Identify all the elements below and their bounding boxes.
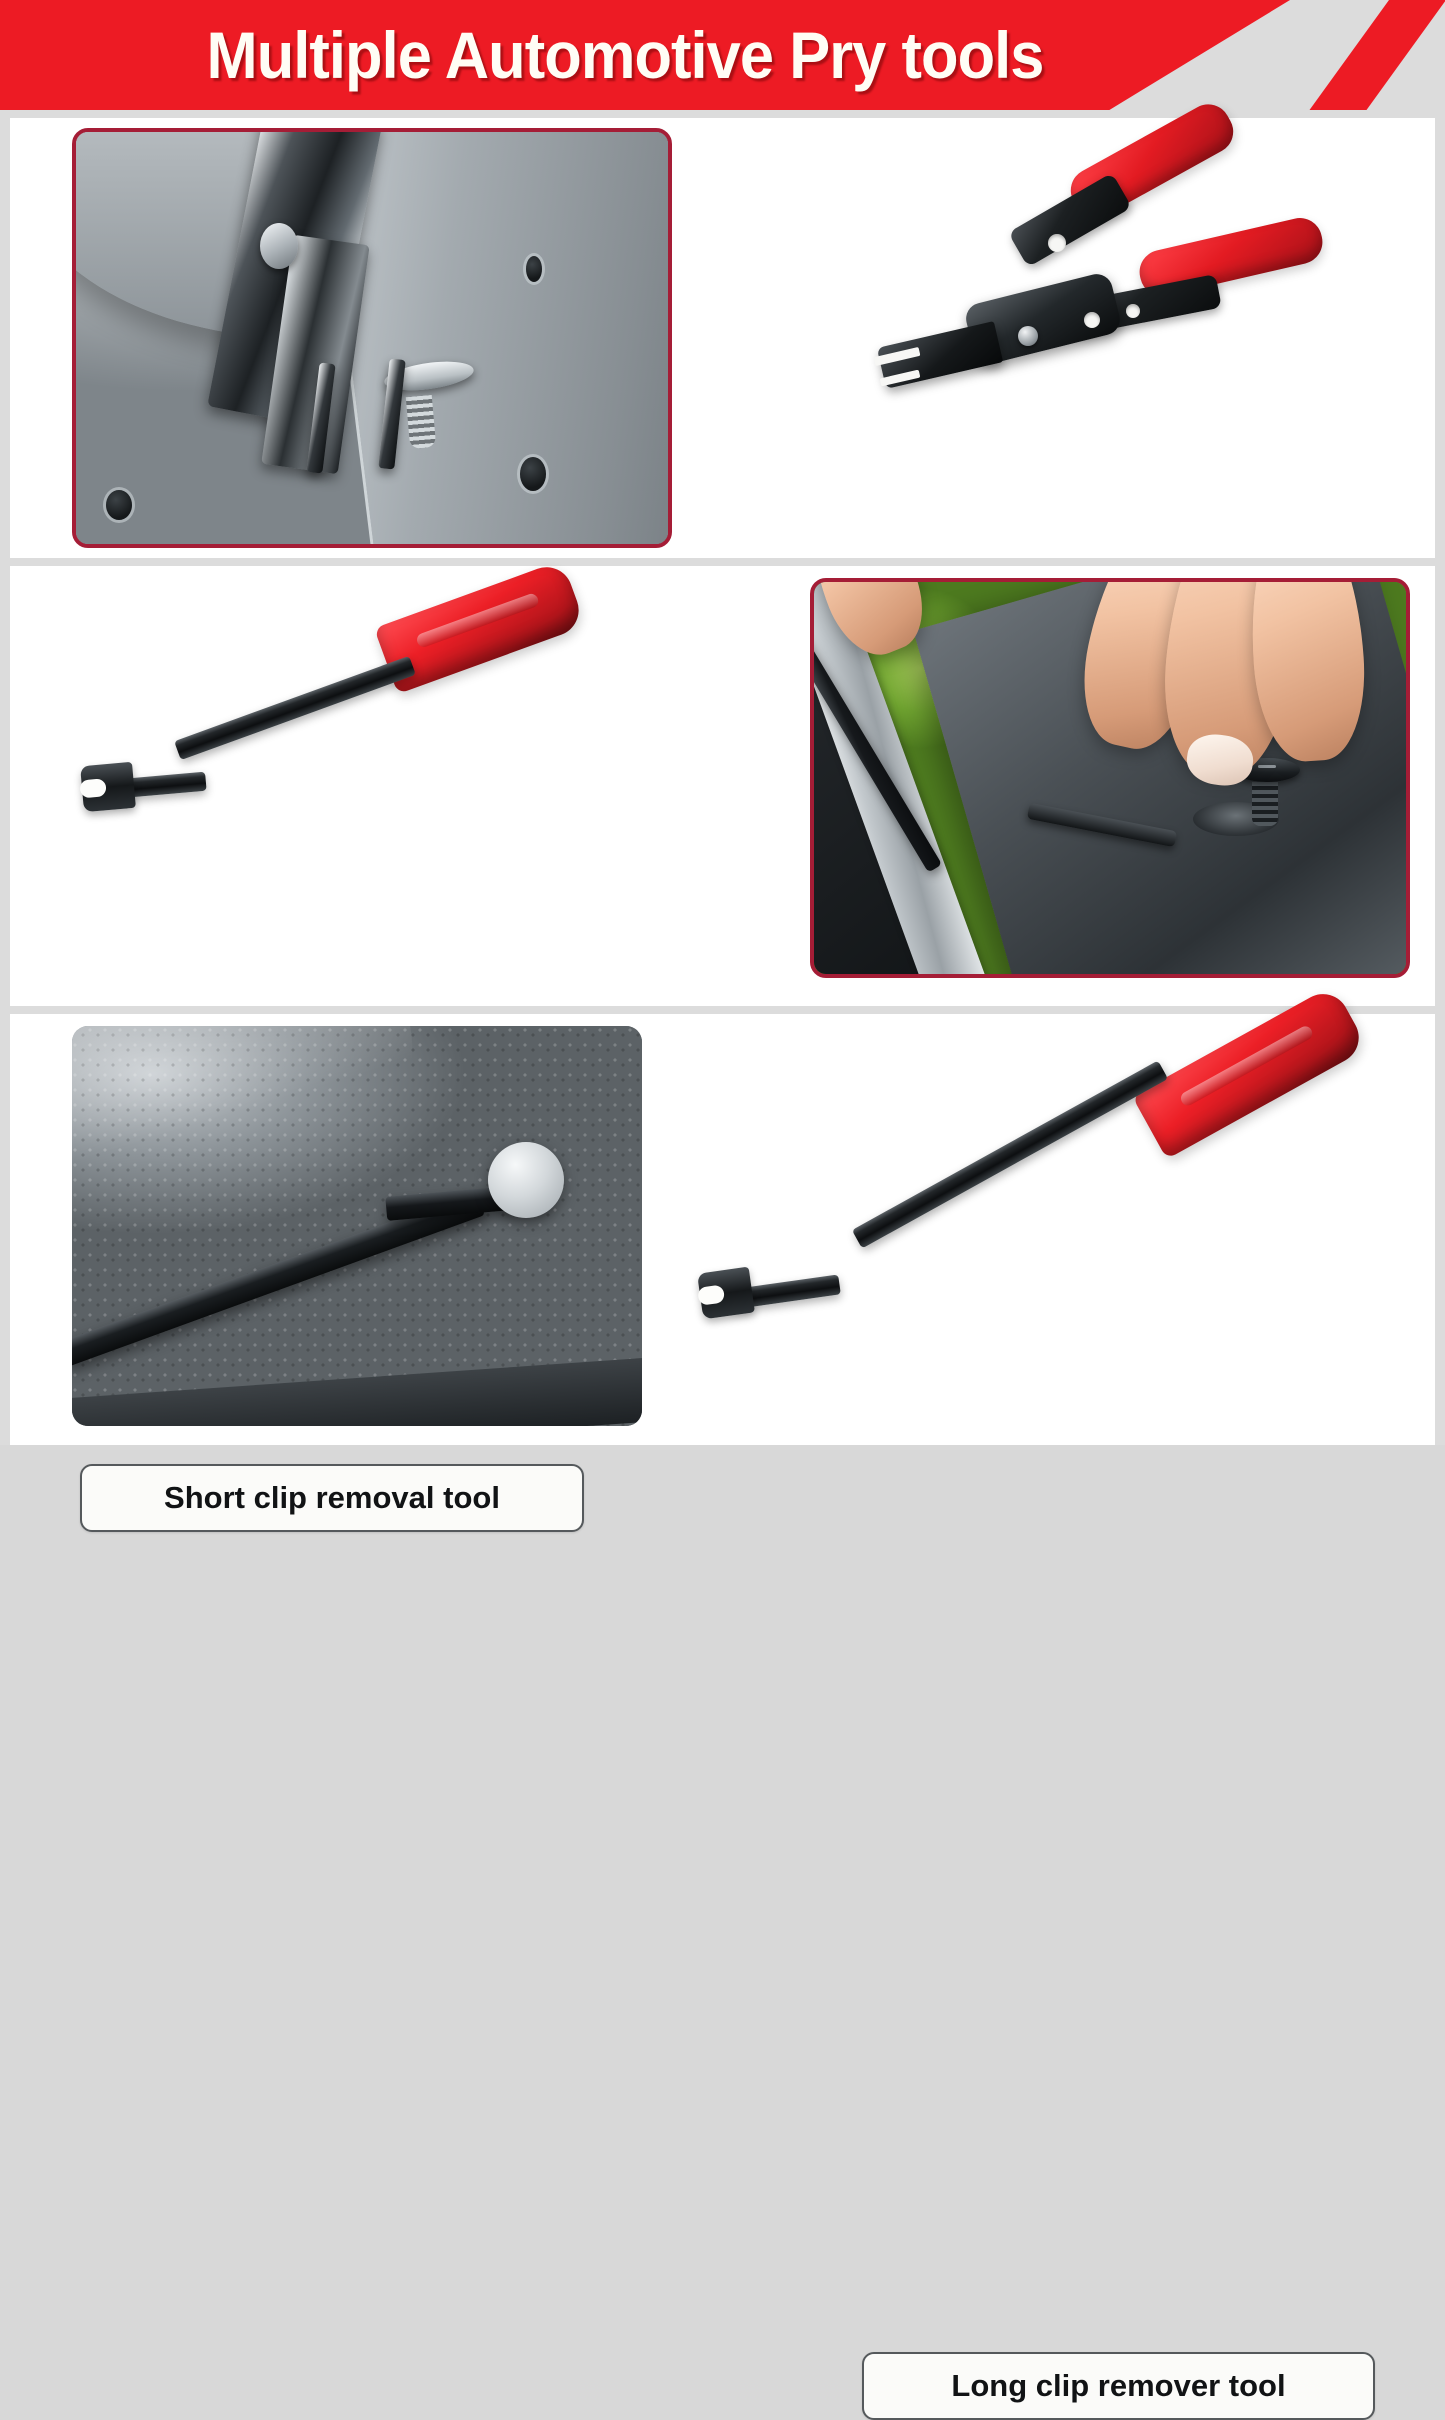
product-infographic: Multiple Automotive Pry tools — [0, 0, 1445, 1445]
short-tool-in-use-photo — [810, 578, 1410, 978]
long-clip-remover-tool-product-photo — [690, 1034, 1430, 1364]
tool-shaft-upper — [174, 656, 416, 760]
tool-handle — [1132, 985, 1368, 1159]
push-pin-stem — [1252, 782, 1278, 826]
panel-ridge — [320, 128, 672, 548]
tool-fork-tip — [80, 762, 136, 812]
header-diagonal-stripe — [1296, 0, 1445, 110]
panel-hole — [106, 490, 132, 520]
pliers-rivet — [260, 223, 298, 269]
pliers-cutout — [1084, 312, 1100, 328]
handle-groove — [415, 592, 540, 649]
pliers-cutout — [1048, 234, 1066, 252]
short-clip-removal-tool-product-photo — [70, 586, 650, 876]
label-short-clip-removal-tool: Short clip removal tool — [80, 1464, 584, 1532]
label-long-clip-remover-tool: Long clip remover tool — [862, 2352, 1375, 2420]
page-title: Multiple Automotive Pry tools — [44, 0, 1207, 110]
panel-clip-removal-pliers: Clip Removal Pliers — [10, 118, 1435, 558]
clip-removal-pliers-in-use-photo — [72, 128, 672, 548]
panel-long-clip-remover-tool: Long clip remover tool — [10, 1014, 1435, 1445]
pliers-cutout — [1126, 304, 1140, 318]
tool-shaft-upper — [852, 1060, 1168, 1248]
panel-short-clip-removal-tool: Short clip removal tool — [10, 566, 1435, 1006]
tool-fork-tip — [697, 1267, 755, 1320]
trim-clip — [488, 1142, 564, 1218]
trim-clip-stem — [405, 395, 435, 449]
header-banner: Multiple Automotive Pry tools — [0, 0, 1445, 110]
handle-groove — [1179, 1024, 1315, 1108]
long-tool-in-use-closeup-photo — [72, 1026, 642, 1426]
panel-hole — [526, 256, 542, 282]
clip-removal-pliers-product-photo — [870, 138, 1340, 438]
pliers-pivot-bolt — [1018, 326, 1038, 346]
